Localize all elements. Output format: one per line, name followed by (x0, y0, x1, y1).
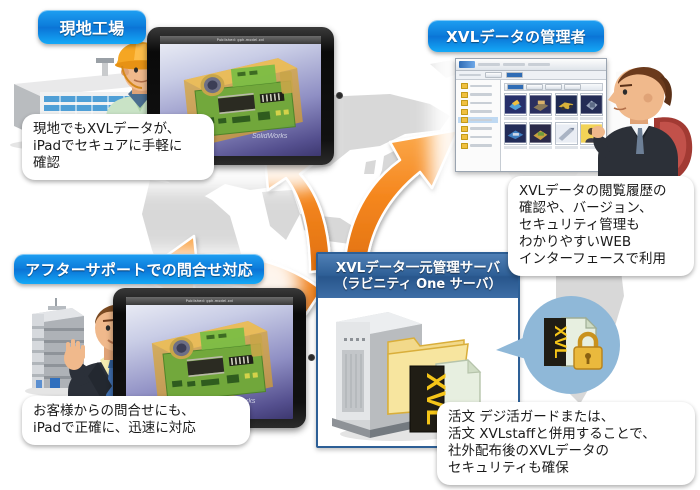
thumbnail-item[interactable] (529, 122, 552, 145)
xvl-security-callout: XVL (504, 292, 610, 398)
tree-node[interactable] (458, 92, 498, 98)
thumbnail-item[interactable] (555, 93, 578, 116)
view-tab-active[interactable] (507, 84, 524, 90)
badge-factory-label: 現地工場 (60, 15, 125, 39)
diagram-canvas: Published: gph-model.xvl (0, 0, 700, 490)
thumbnail-item[interactable] (555, 122, 578, 145)
tree-node[interactable] (458, 109, 498, 115)
filemgr-toolbar[interactable] (456, 71, 606, 80)
tablet-titlebar: Published: gph-model.xvl (160, 36, 321, 44)
tree-node[interactable] (458, 126, 498, 132)
filemgr-tree-panel[interactable] (456, 80, 501, 172)
server-title-line2: （ラビニティ One サーバ） (334, 277, 501, 293)
thumbnail-item[interactable] (529, 93, 552, 116)
view-tab[interactable] (545, 84, 562, 90)
filemgr-title-text (478, 63, 500, 66)
thumbnail-grid[interactable] (504, 93, 603, 149)
callout-admin: XVLデータの閲覧履歴の 確認や、バージョン、 セキュリティ管理も わかりやすい… (508, 176, 694, 276)
view-tab[interactable] (526, 84, 543, 90)
tree-node[interactable] (458, 83, 498, 89)
tree-node[interactable] (458, 100, 498, 106)
tree-node[interactable] (458, 143, 498, 149)
badge-admin-label: XVLデータの管理者 (446, 26, 586, 47)
tablet-home-button[interactable] (308, 354, 315, 361)
svg-text:XVL: XVL (551, 325, 570, 358)
server-title-line1: XVLデータ一元管理サーバ (336, 260, 500, 277)
server-panel-title: XVLデータ一元管理サーバ （ラビニティ One サーバ） (318, 254, 518, 298)
svg-text:SolidWorks: SolidWorks (252, 133, 288, 140)
callout-server-security: 活文 デジ活ガードまたは、 活文 XVLstaffと併用することで、 社外配布後… (437, 402, 695, 485)
filemgr-body (456, 80, 606, 172)
thumbnail-item[interactable] (504, 122, 527, 145)
filemgr-search-box[interactable] (485, 72, 502, 78)
badge-admin[interactable]: XVLデータの管理者 (428, 20, 604, 52)
tree-node[interactable] (458, 134, 498, 140)
filemgr-content-panel (501, 80, 606, 172)
pcb-3d-model: SolidWorks (146, 313, 278, 409)
filemgr-breadcrumb (459, 74, 481, 77)
badge-factory[interactable]: 現地工場 (38, 10, 146, 44)
callout-factory: 現地でもXVLデータが、 iPadでセキュアに手軽に 確認 (22, 114, 214, 180)
badge-support[interactable]: アフターサポートでの問合せ対応 (14, 254, 264, 284)
thumbnail-item[interactable] (504, 93, 527, 116)
filemgr-view-tabs[interactable] (504, 83, 603, 91)
tree-node-selected[interactable] (458, 117, 498, 123)
filemgr-search-button[interactable] (506, 72, 523, 78)
xvl-lock-icon: XVL (538, 314, 608, 376)
callout-support: お客様からの問合せにも、 iPadで正確に、迅速に対応 (22, 396, 250, 445)
admin-person-illustration (592, 62, 700, 190)
view-tab[interactable] (564, 84, 581, 90)
tablet-titlebar: Published: gph-model.xvl (126, 297, 293, 305)
filemgr-titlebar (456, 59, 606, 71)
tablet-home-button[interactable] (336, 92, 343, 99)
filemgr-user-text (528, 63, 550, 66)
xvl-web-file-manager-window[interactable] (455, 58, 607, 172)
filemgr-menu-text (503, 63, 525, 66)
filemgr-logo (459, 61, 475, 68)
badge-support-label: アフターサポートでの問合せ対応 (25, 259, 253, 280)
